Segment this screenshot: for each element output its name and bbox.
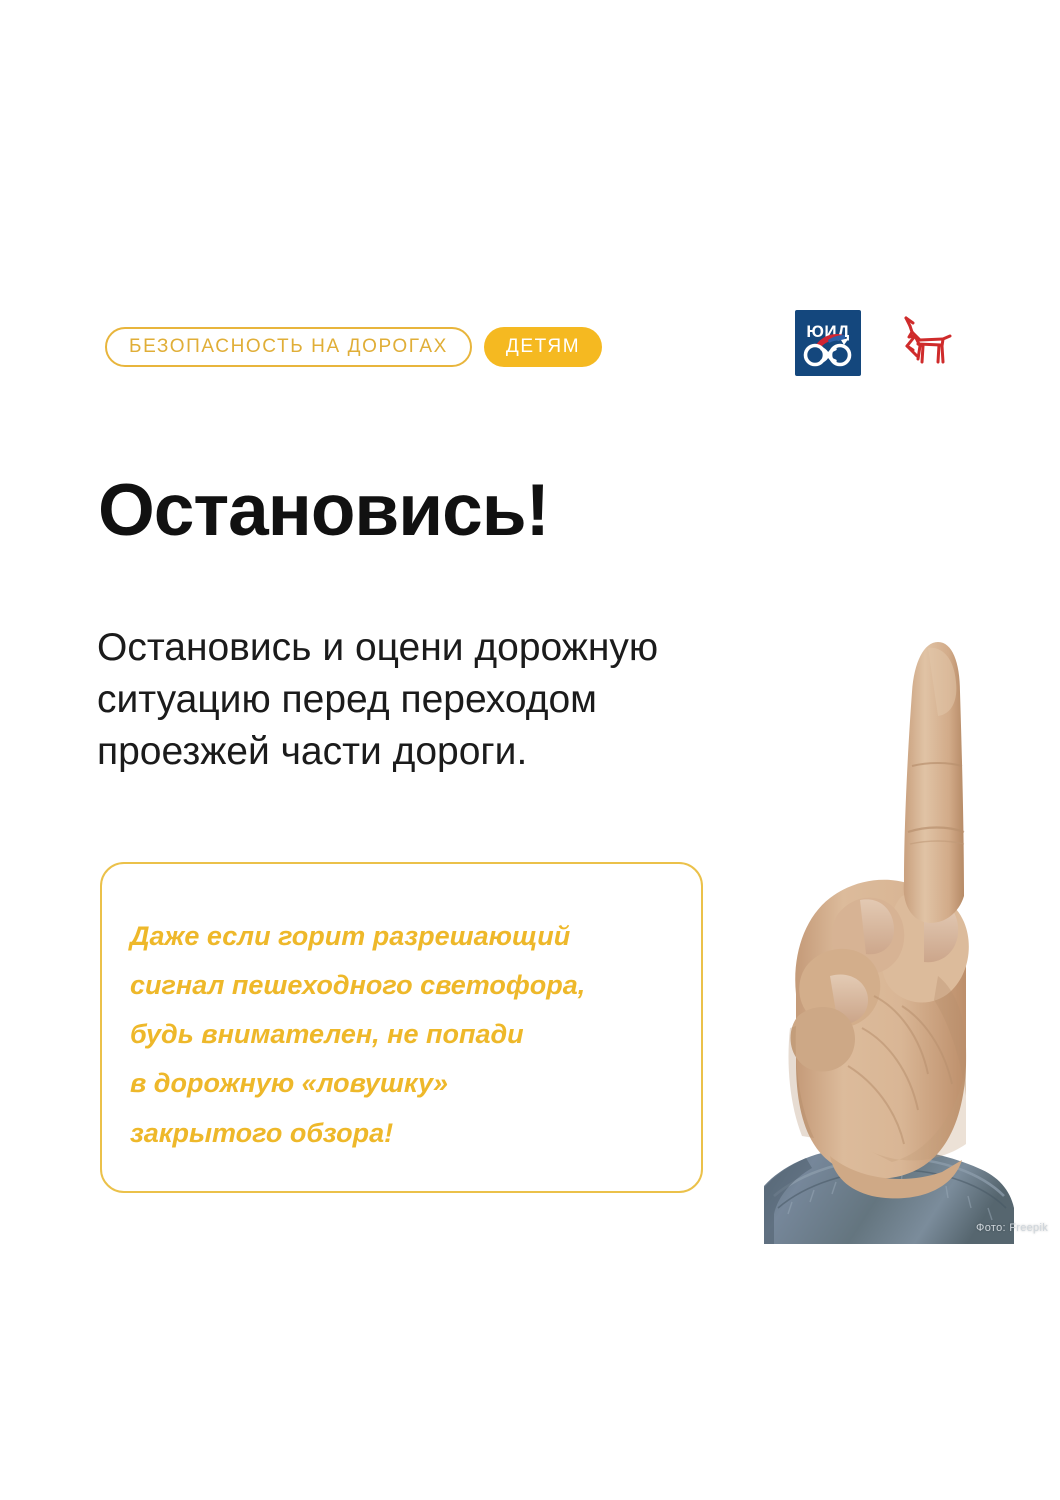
hand-pointing-up-illustration [752, 596, 1060, 1244]
callout-line: закрытого обзора! [130, 1109, 690, 1158]
callout-line: Даже если горит разрешающий [130, 912, 690, 961]
callout-line: будь внимателен, не попади [130, 1010, 690, 1059]
badge-for-children: ДЕТЯМ [484, 327, 602, 367]
callout-text: Даже если горит разрешающий сигнал пешех… [130, 912, 690, 1158]
yuid-logo-icon: ЮИД [795, 310, 861, 376]
poster-canvas: БЕЗОПАСНОСТЬ НА ДОРОГАХ ДЕТЯМ ЮИД [0, 0, 1060, 1500]
callout-line: сигнал пешеходного светофора, [130, 961, 690, 1010]
callout-line: в дорожную «ловушку» [130, 1059, 690, 1108]
deer-emblem-icon [893, 312, 953, 374]
page-title: Остановись! [98, 474, 549, 547]
logo-group: ЮИД [795, 310, 953, 376]
photo-credit: Фото: Freepik [976, 1222, 1048, 1234]
badge-safety-on-roads: БЕЗОПАСНОСТЬ НА ДОРОГАХ [105, 327, 472, 367]
lead-line: проезжей части дороги. [97, 726, 827, 778]
little-finger-shape [791, 1007, 856, 1072]
lead-paragraph: Остановись и оцени дорожную ситуацию пер… [97, 622, 827, 778]
lead-line: Остановись и оцени дорожную [97, 622, 827, 674]
hand-photo: Фото: Freepik [752, 596, 1060, 1244]
header-badges: БЕЗОПАСНОСТЬ НА ДОРОГАХ ДЕТЯМ [105, 326, 602, 368]
lead-line: ситуацию перед переходом [97, 674, 827, 726]
